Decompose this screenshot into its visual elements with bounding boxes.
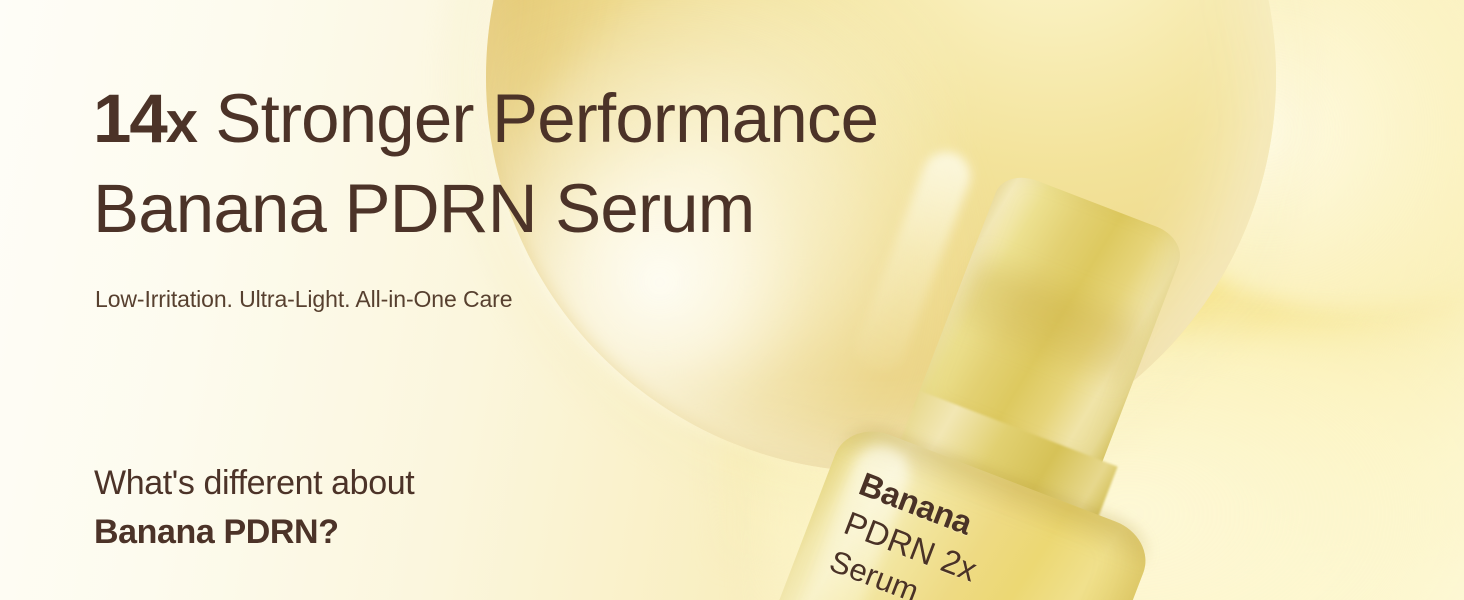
headline-line-1: 14x Stronger Performance bbox=[93, 74, 878, 164]
promo-banner: Banana PDRN 2x Serum 14x Stronger Perfor… bbox=[0, 0, 1464, 600]
section-question: What's different about Banana PDRN? bbox=[94, 459, 414, 557]
headline-line-2: Banana PDRN Serum bbox=[93, 164, 878, 254]
headline-line-1-rest: Stronger Performance bbox=[197, 80, 878, 157]
section-question-line-1: What's different about bbox=[94, 459, 414, 508]
subtitle: Low-Irritation. Ultra-Light. All-in-One … bbox=[95, 286, 512, 313]
multiplier-suffix: x bbox=[166, 90, 197, 155]
multiplier-number: 14 bbox=[93, 80, 166, 157]
headline: 14x Stronger Performance Banana PDRN Ser… bbox=[93, 74, 878, 253]
multiplier-badge: 14x bbox=[93, 80, 197, 157]
section-question-line-2: Banana PDRN? bbox=[94, 508, 414, 557]
banner-copy: 14x Stronger Performance Banana PDRN Ser… bbox=[93, 0, 1153, 600]
